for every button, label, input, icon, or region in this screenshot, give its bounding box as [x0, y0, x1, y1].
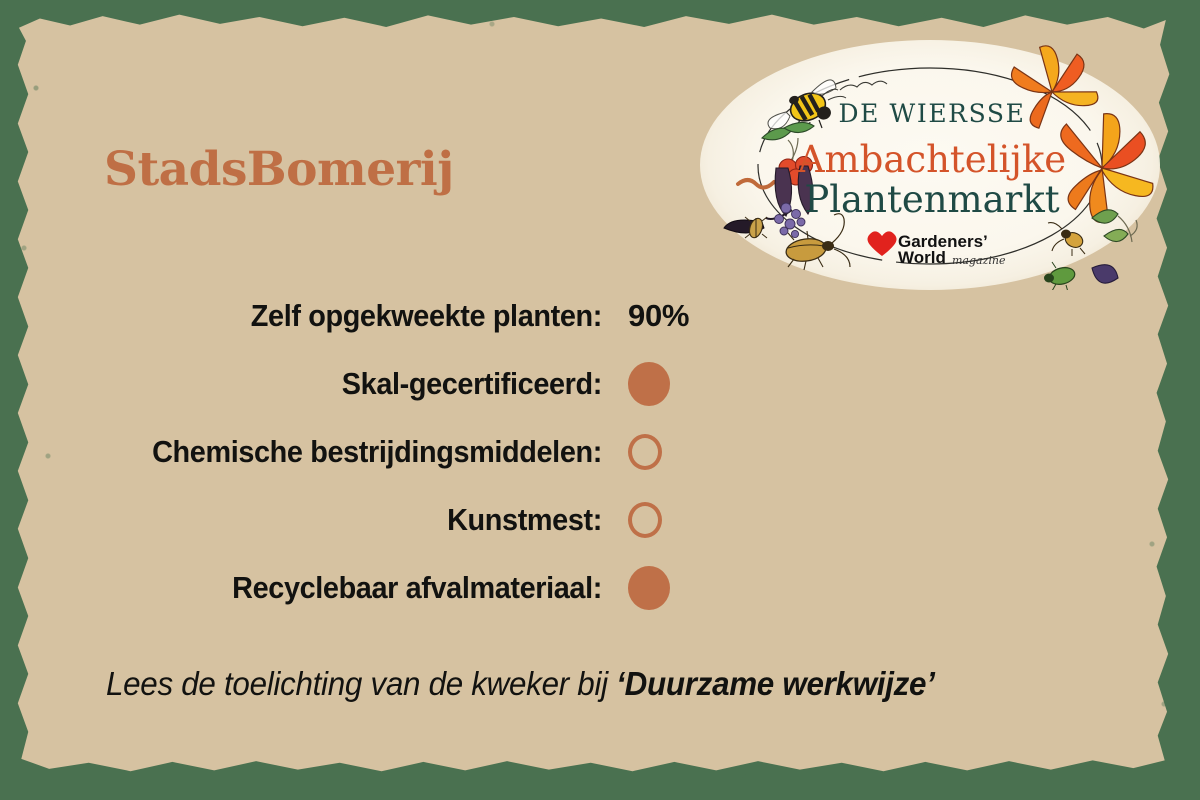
criteria-label-recyclable-waste: Recyclebaar afvalmateriaal: [100, 570, 628, 606]
criteria-row: Skal-gecertificeerd: [60, 350, 740, 418]
logo-line1: DE WIERSSE [839, 99, 1026, 128]
poster-root: StadsBomerij Zelf opgekweekte planten: 9… [0, 0, 1200, 800]
sponsor-line2: World [898, 248, 946, 267]
criteria-label-chemical-pesticides: Chemische bestrijdingsmiddelen: [100, 434, 628, 470]
status-dot-filled-icon [628, 566, 670, 610]
sponsor-line3: magazine [952, 254, 1006, 267]
criteria-label-artificial-fertiliser: Kunstmest: [100, 502, 628, 538]
criteria-value-recyclable-waste [628, 566, 738, 610]
criteria-row: Zelf opgekweekte planten: 90% [60, 282, 740, 350]
worm-icon [738, 180, 774, 188]
sponsor-logo: Gardeners’ World magazine [868, 231, 1006, 267]
beetle-right-icon [1048, 223, 1085, 256]
criteria-label-own-grown: Zelf opgekweekte planten: [100, 298, 628, 334]
status-dot-hollow-icon [628, 502, 662, 538]
logo-line2: Ambachtelijke [797, 138, 1066, 181]
green-leaves-icon [1092, 210, 1137, 242]
criteria-row: Chemische bestrijdingsmiddelen: [60, 418, 740, 486]
criteria-value-own-grown: 90% [628, 298, 738, 334]
logo-illustration: DE WIERSSE Ambachtelijke Plantenmarkt Ga… [700, 40, 1160, 290]
criteria-value-artificial-fertiliser [628, 502, 738, 538]
criteria-value-skal-certified [628, 362, 738, 406]
footnote-lead: Lees de toelichting van de kweker bij [106, 665, 616, 702]
percentage-value: 90% [628, 298, 689, 334]
footnote: Lees de toelichting van de kweker bij ‘D… [106, 665, 935, 703]
heart-icon [868, 231, 897, 256]
status-dot-hollow-icon [628, 434, 662, 470]
page-title: StadsBomerij [104, 142, 454, 197]
status-dot-filled-icon [628, 362, 670, 406]
green-beetle-right-icon [1044, 262, 1077, 290]
sustainability-criteria-list: Zelf opgekweekte planten: 90% Skal-gecer… [60, 282, 740, 622]
footnote-emphasis: ‘Duurzame werkwijze’ [616, 665, 934, 702]
event-logo: DE WIERSSE Ambachtelijke Plantenmarkt Ga… [700, 40, 1160, 290]
purple-leaf-right-icon [1092, 265, 1118, 283]
criteria-value-chemical-pesticides [628, 434, 738, 470]
criteria-row: Kunstmest: [60, 486, 740, 554]
criteria-label-skal-certified: Skal-gecertificeerd: [100, 366, 628, 402]
criteria-row: Recyclebaar afvalmateriaal: [60, 554, 740, 622]
logo-line3: Plantenmarkt [804, 178, 1059, 221]
